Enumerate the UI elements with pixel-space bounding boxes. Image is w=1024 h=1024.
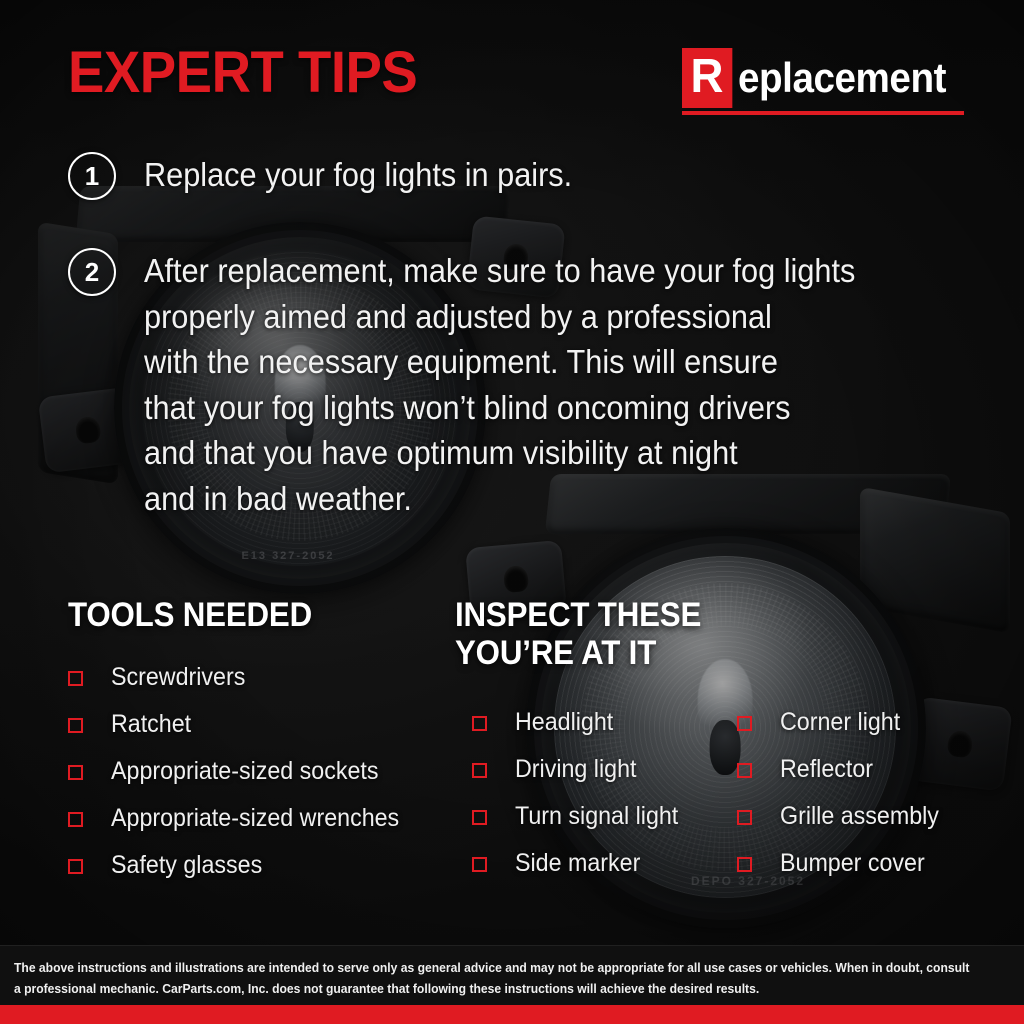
tip-item-2: 2 After replacement, make sure to have y… — [68, 248, 909, 521]
checkbox-icon[interactable] — [472, 857, 487, 872]
logo-underline — [682, 111, 964, 115]
list-item[interactable]: Driving light — [472, 757, 691, 782]
checkbox-icon[interactable] — [472, 763, 487, 778]
checkbox-icon[interactable] — [68, 765, 83, 780]
list-item-label: Headlight — [515, 710, 613, 735]
checkbox-icon[interactable] — [68, 812, 83, 827]
checkbox-icon[interactable] — [737, 716, 752, 731]
list-item[interactable]: Appropriate-sized wrenches — [68, 806, 421, 831]
list-item[interactable]: Screwdrivers — [68, 665, 421, 690]
list-item-label: Appropriate-sized sockets — [111, 759, 379, 784]
list-item[interactable]: Corner light — [737, 710, 951, 735]
tip-number-badge: 1 — [68, 152, 116, 200]
list-item-label: Bumper cover — [780, 851, 925, 876]
replacement-brand-logo: R eplacement — [682, 48, 964, 115]
tools-needed-heading: TOOLS NEEDED — [68, 596, 312, 634]
tools-needed-list: Screwdrivers Ratchet Appropriate-sized s… — [68, 665, 421, 900]
list-item-label: Side marker — [515, 851, 640, 876]
list-item[interactable]: Headlight — [472, 710, 691, 735]
tip-number-badge: 2 — [68, 248, 116, 296]
tip-text: Replace your fog lights in pairs. — [144, 152, 572, 198]
list-item[interactable]: Reflector — [737, 757, 951, 782]
checkbox-icon[interactable] — [68, 859, 83, 874]
disclaimer-text: The above instructions and illustrations… — [14, 958, 976, 999]
list-item[interactable]: Safety glasses — [68, 853, 421, 878]
logo-initial-badge: R — [682, 48, 732, 108]
content-layer: EXPERT TIPS R eplacement 1 Replace your … — [0, 0, 1024, 1024]
inspect-list-column-b: Corner light Reflector Grille assembly B… — [737, 710, 951, 898]
checkbox-icon[interactable] — [737, 763, 752, 778]
list-item[interactable]: Turn signal light — [472, 804, 691, 829]
list-item-label: Screwdrivers — [111, 665, 245, 690]
page-title: EXPERT TIPS — [68, 44, 417, 102]
bottom-accent-bar — [0, 1005, 1024, 1024]
checkbox-icon[interactable] — [472, 716, 487, 731]
list-item-label: Grille assembly — [780, 804, 939, 829]
list-item-label: Ratchet — [111, 712, 191, 737]
expert-tips-infographic: E13 327-2052 DEPO 327-2052 EXPERT TIPS R — [0, 0, 1024, 1024]
list-item-label: Turn signal light — [515, 804, 678, 829]
list-item[interactable]: Appropriate-sized sockets — [68, 759, 421, 784]
tip-item-1: 1 Replace your fog lights in pairs. — [68, 152, 604, 200]
footer-disclaimer-bar: The above instructions and illustrations… — [0, 945, 1024, 1005]
list-item-label: Appropriate-sized wrenches — [111, 806, 399, 831]
logo-row: R eplacement — [682, 48, 964, 108]
logo-wordmark: eplacement — [738, 57, 946, 99]
list-item[interactable]: Side marker — [472, 851, 691, 876]
list-item[interactable]: Grille assembly — [737, 804, 951, 829]
inspect-these-heading: INSPECT THESE YOU’RE AT IT — [455, 596, 701, 672]
list-item[interactable]: Bumper cover — [737, 851, 951, 876]
checkbox-icon[interactable] — [68, 671, 83, 686]
tip-text: After replacement, make sure to have you… — [144, 248, 855, 521]
list-item[interactable]: Ratchet — [68, 712, 421, 737]
list-item-label: Reflector — [780, 757, 873, 782]
checkbox-icon[interactable] — [68, 718, 83, 733]
checkbox-icon[interactable] — [737, 810, 752, 825]
list-item-label: Driving light — [515, 757, 636, 782]
list-item-label: Safety glasses — [111, 853, 262, 878]
checkbox-icon[interactable] — [737, 857, 752, 872]
inspect-list-column-a: Headlight Driving light Turn signal ligh… — [472, 710, 691, 898]
checkbox-icon[interactable] — [472, 810, 487, 825]
list-item-label: Corner light — [780, 710, 900, 735]
